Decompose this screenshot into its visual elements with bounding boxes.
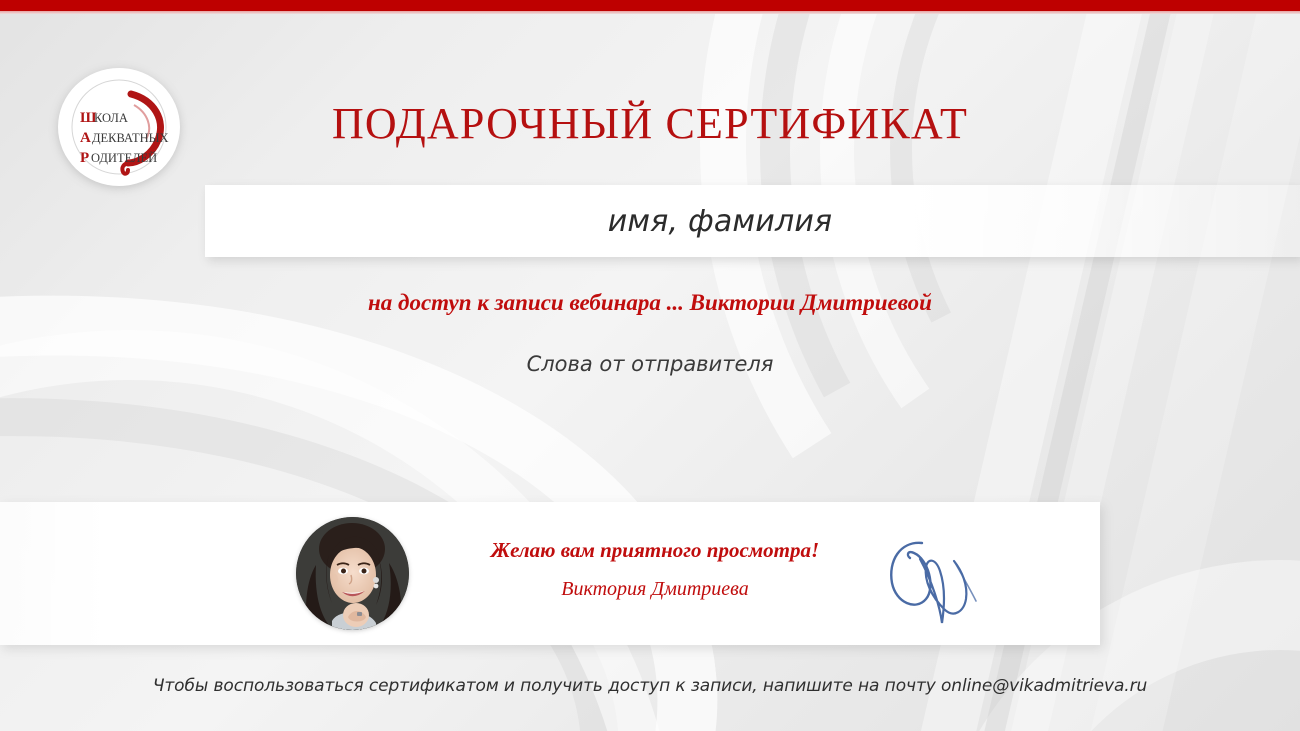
logo-line1-rest: КОЛА (94, 111, 128, 125)
author-signature (870, 515, 1000, 630)
logo-mark-icon: Ш КОЛА А ДЕКВАТНЫХ Р ОДИТЕЛЕЙ (58, 68, 180, 186)
portrait-photo-icon (296, 517, 409, 630)
logo-line2-first: А (80, 130, 91, 146)
recipient-name-field[interactable]: имя, фамилия (205, 185, 1235, 257)
handwritten-signature-icon (870, 515, 1000, 630)
logo-line3-first: Р (80, 150, 89, 166)
wish-text: Желаю вам приятного просмотра! (430, 538, 880, 563)
sender-words-field[interactable]: Слова от отправителя (0, 352, 1300, 376)
logo-line2-rest: ДЕКВАТНЫХ (92, 131, 169, 145)
top-accent-underline (0, 11, 1300, 14)
school-logo: Ш КОЛА А ДЕКВАТНЫХ Р ОДИТЕЛЕЙ (58, 68, 180, 186)
author-portrait (296, 517, 409, 630)
certificate-title: ПОДАРОЧНЫЙ СЕРТИФИКАТ (200, 98, 1100, 149)
footer-instructions: Чтобы воспользоваться сертификатом и пол… (0, 676, 1300, 696)
gift-certificate: Ш КОЛА А ДЕКВАТНЫХ Р ОДИТЕЛЕЙ ПОДАРОЧНЫЙ… (0, 0, 1300, 731)
signer-name: Виктория Дмитриева (430, 578, 880, 601)
certificate-subtitle: на доступ к записи вебинара ... Виктории… (0, 290, 1300, 316)
logo-line3-rest: ОДИТЕЛЕЙ (91, 151, 157, 165)
top-accent-bar (0, 0, 1300, 11)
